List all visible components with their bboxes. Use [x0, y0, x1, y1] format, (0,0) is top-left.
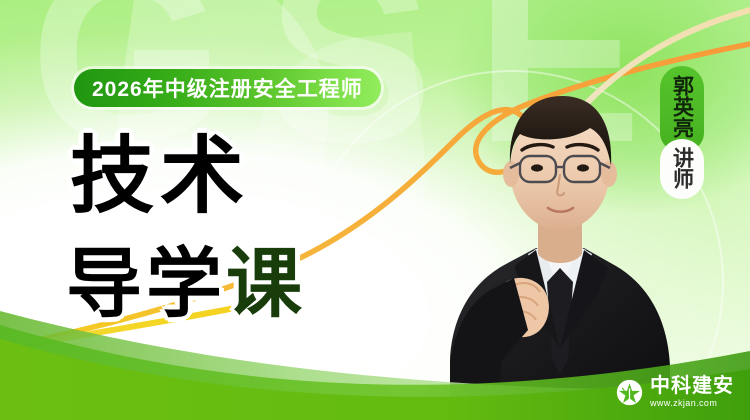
- page-subtitle: 导学课: [66, 246, 306, 324]
- star-circle-icon: [616, 379, 643, 406]
- course-poster: GSE: [0, 0, 750, 420]
- page-title: 技术: [70, 133, 250, 219]
- brand-url: www.zkjan.com: [650, 399, 734, 408]
- course-tag-pill: 2026年中级注册安全工程师: [74, 69, 381, 107]
- instructor-badge: 郭英亮 讲师: [660, 66, 704, 199]
- course-tag-label: 2026年中级注册安全工程师: [92, 73, 363, 103]
- brand-name: 中科建安: [650, 376, 734, 396]
- page-subtitle-accent: 课: [226, 242, 306, 327]
- brand-logo: 中科建安 www.zkjan.com: [616, 376, 734, 408]
- brand-text-block: 中科建安 www.zkjan.com: [650, 376, 734, 408]
- instructor-role: 讲师: [660, 139, 704, 199]
- page-subtitle-plain: 导学: [66, 242, 226, 327]
